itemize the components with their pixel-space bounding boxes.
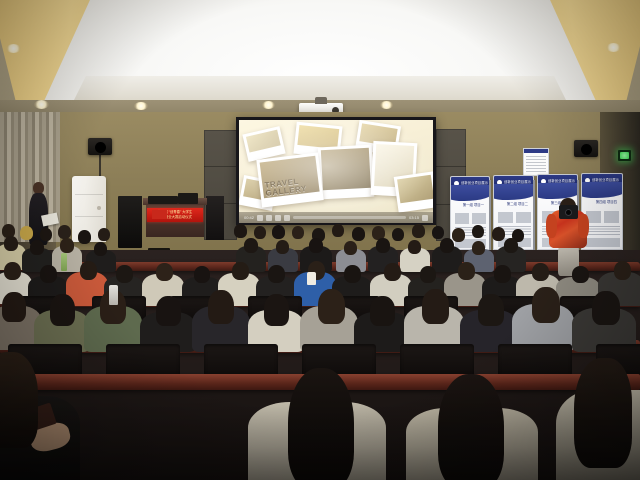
photographer-arm (578, 214, 589, 238)
photographer-arm (546, 214, 557, 238)
ac-control-knob[interactable] (97, 206, 101, 210)
projected-slide: TRAVEL GALLERY 00:42 03:15 (239, 120, 433, 223)
camera-icon (559, 205, 578, 219)
standing-photographer (548, 192, 588, 274)
lectern-equipment (148, 196, 178, 204)
wall-notice-sheet (523, 148, 549, 176)
time-total: 03:15 (409, 215, 419, 220)
time-elapsed: 00:42 (244, 215, 254, 220)
poster-board-leg (489, 180, 491, 250)
av-equipment-cabinet (118, 196, 142, 248)
poster-board-leg (533, 180, 535, 250)
water-bottle (61, 253, 67, 271)
poster-title: 第二组 项目二 (507, 202, 528, 207)
emergency-exit-sign-icon (618, 150, 631, 161)
downlight (134, 102, 148, 110)
equipment-red-label (152, 210, 167, 219)
paper-cup (307, 272, 316, 285)
person-hair (0, 352, 38, 448)
wall-speaker-left-icon (88, 138, 112, 155)
person-hair (438, 374, 504, 480)
downlight (606, 43, 621, 52)
seek-track[interactable] (293, 216, 406, 219)
person-hair (574, 358, 632, 468)
lectern-microphone (178, 193, 198, 204)
projector-mount (315, 97, 327, 104)
poster-title: 第四组 项目四 (596, 200, 617, 205)
media-player-controls[interactable]: 00:42 03:15 (239, 212, 433, 223)
downlight (262, 101, 275, 109)
lectern: 第五届 “创青春” 大学生 创新创业大赛启动仪式 (146, 203, 204, 237)
downlight (34, 100, 49, 109)
speaker-column-right (206, 196, 224, 240)
poster-title: 第一组 项目一 (463, 203, 484, 208)
play-button-icon[interactable] (266, 215, 272, 221)
pause-button-icon[interactable] (275, 215, 281, 221)
downlight (380, 101, 393, 109)
projection-screen: TRAVEL GALLERY 00:42 03:15 (236, 117, 436, 225)
downlight (6, 44, 21, 53)
collage-photo (394, 171, 433, 212)
thermos-cup (109, 285, 118, 305)
previous-button-icon[interactable] (257, 215, 263, 221)
auditorium-photo: TRAVEL GALLERY 00:42 03:15 创新创业项目展示 第一组 … (0, 0, 640, 480)
stop-button-icon[interactable] (284, 215, 290, 221)
person-hair (288, 368, 354, 480)
fullscreen-button-icon[interactable] (422, 215, 428, 221)
wall-speaker-right-icon (574, 140, 598, 157)
